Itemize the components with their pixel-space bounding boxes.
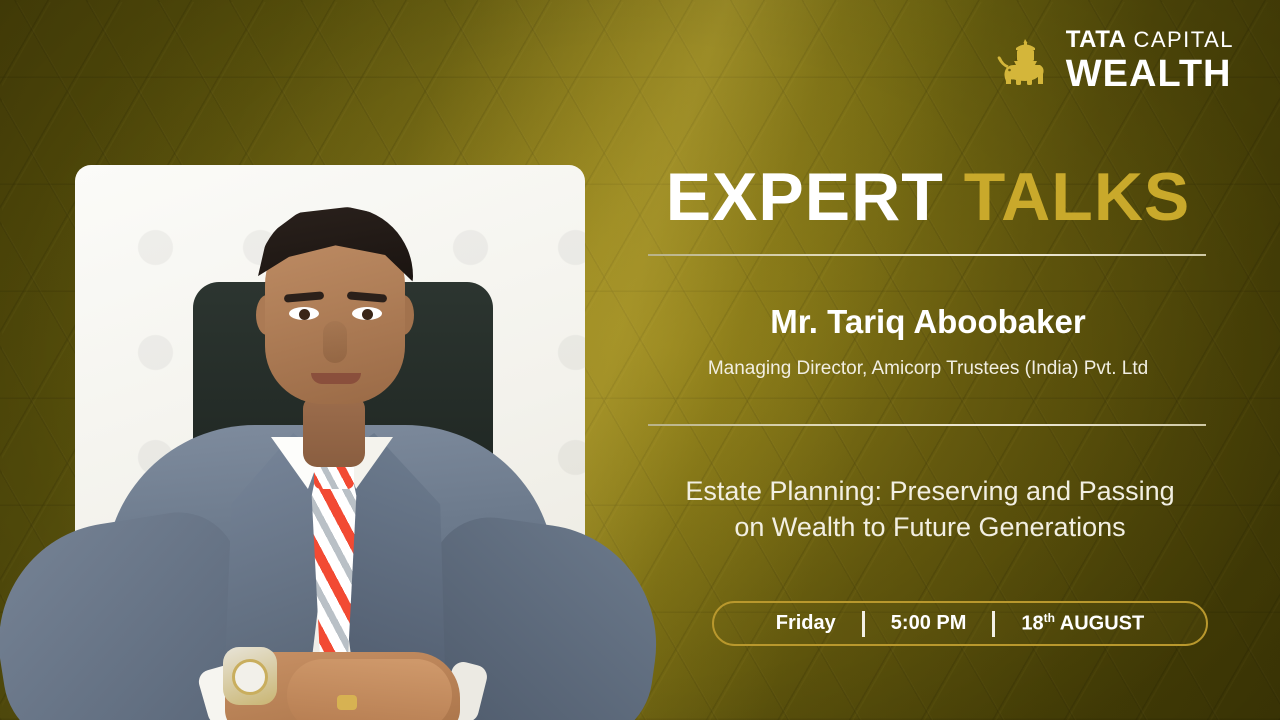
page-title: EXPERT TALKS bbox=[648, 163, 1208, 231]
session-topic: Estate Planning: Preserving and Passing … bbox=[654, 473, 1206, 545]
clasped-hands-upper bbox=[287, 659, 452, 720]
schedule-day: Friday bbox=[750, 612, 862, 635]
schedule-pill: Friday 5:00 PM 18th AUGUST bbox=[712, 601, 1208, 646]
schedule-date-month: AUGUST bbox=[1060, 613, 1144, 635]
wristwatch-face bbox=[232, 659, 268, 695]
title-word-talks: TALKS bbox=[964, 159, 1191, 235]
finger-ring bbox=[337, 695, 357, 710]
content-column: EXPERT TALKS Mr. Tariq Aboobaker Managin… bbox=[648, 0, 1208, 720]
schedule-date-number: 18 bbox=[1021, 613, 1043, 635]
title-word-expert: EXPERT bbox=[666, 159, 944, 235]
schedule-date-suffix: th bbox=[1044, 611, 1055, 625]
neck bbox=[303, 395, 365, 467]
divider-top bbox=[648, 254, 1206, 256]
pupil-left bbox=[299, 309, 310, 320]
speaker-role: Managing Director, Amicorp Trustees (Ind… bbox=[648, 358, 1208, 380]
expert-talks-banner: TATA CAPITAL WEALTH EXPERT TALKS Mr. Tar… bbox=[0, 0, 1280, 720]
nose bbox=[323, 321, 347, 363]
schedule-time: 5:00 PM bbox=[865, 612, 993, 635]
topic-line-1: Estate Planning: Preserving and Passing bbox=[685, 476, 1174, 506]
speaker-photo-card bbox=[75, 165, 585, 690]
mouth bbox=[311, 373, 361, 384]
pupil-right bbox=[362, 309, 373, 320]
divider-bottom bbox=[648, 424, 1206, 426]
topic-line-2: on Wealth to Future Generations bbox=[734, 512, 1125, 542]
speaker-name: Mr. Tariq Aboobaker bbox=[648, 303, 1208, 341]
speaker-portrait bbox=[75, 107, 585, 707]
schedule-date: 18th AUGUST bbox=[995, 611, 1170, 636]
